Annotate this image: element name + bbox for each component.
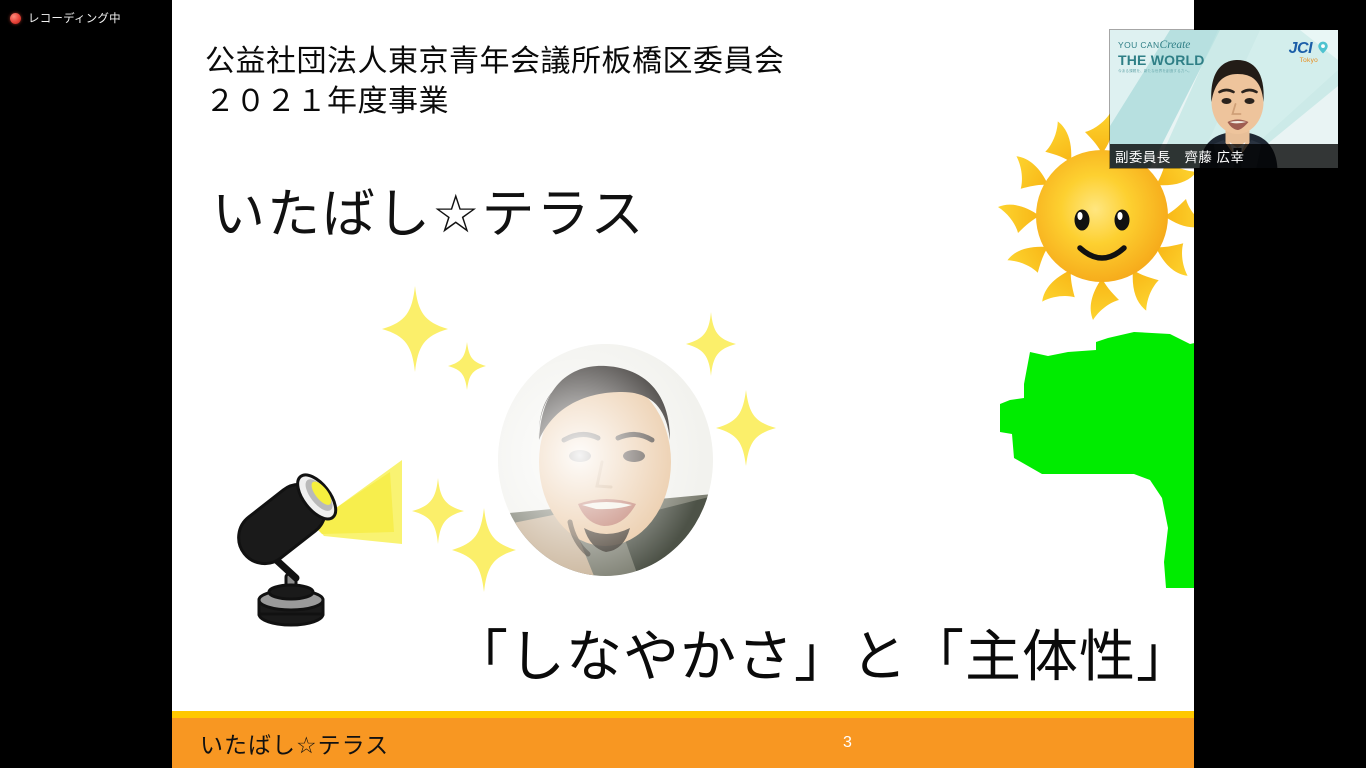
itabashi-ward-map-icon [984,322,1194,622]
recording-indicator: レコーディング中 [10,8,121,28]
slide-subline: 「しなやかさ」と「主体性」 [452,612,1193,693]
slide-title: 公益社団法人東京青年会議所板橋区委員会 ２０２１年度事業 [205,42,785,122]
stage-spotlight-icon [212,452,402,632]
sparkle-icon [452,508,516,592]
sparkle-icon [448,342,486,390]
slogan-line1: YOU CAN [1118,40,1160,50]
participant-name-bar: 副委員長 齊藤 広幸 [1110,144,1338,168]
footer-bar: いたばし☆テラス 3 [172,718,1194,768]
slide-headline: いたばし☆テラス [212,172,645,248]
zoom-screen-share-view: レコーディング中 公益社団法人東京青年会議所板橋区委員会 ２０２１年度事業 いた… [0,0,1366,768]
sparkle-icon [382,286,448,372]
member-portrait-group [390,282,800,642]
footer-title: いたばし☆テラス [200,726,389,760]
sparkle-icon [716,390,776,466]
member-portrait-photo [498,344,713,576]
jci-tokyo-logo: JCI Tokyo [1289,41,1329,65]
presentation-slide: 公益社団法人東京青年会議所板橋区委員会 ２０２１年度事業 いたばし☆テラス [172,0,1194,768]
location-pin-icon [1317,41,1329,54]
participant-name: 副委員長 齊藤 広幸 [1110,146,1244,166]
page-number: 3 [843,734,852,752]
participant-video-thumbnail[interactable]: YOU CANCreate THE WORLD 今ある課題を、新たな世界を創造す… [1110,30,1338,168]
jci-logo-sub: Tokyo [1289,58,1329,65]
recording-dot-icon [10,13,21,24]
footer-stripe [172,711,1194,718]
recording-label: レコーディング中 [28,10,121,26]
sparkle-icon [686,312,736,376]
jci-logo-text: JCI [1289,40,1312,57]
